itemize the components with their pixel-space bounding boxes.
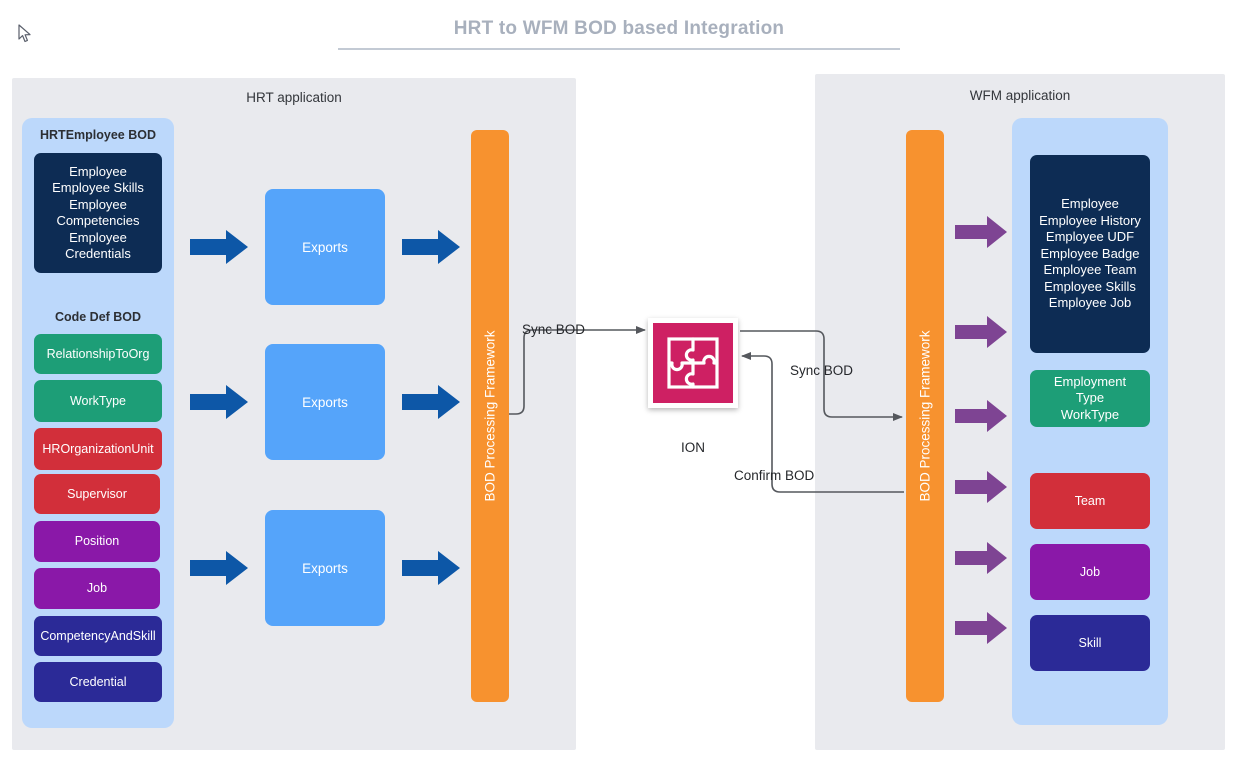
wfm-arrow-right-5 — [955, 540, 1009, 576]
code-def-item-supervisor[interactable]: Supervisor — [34, 474, 160, 514]
diagram-canvas: HRT to WFM BOD based Integration HRT app… — [0, 0, 1233, 760]
hrt-arrow-right-3 — [190, 549, 250, 587]
hrt-exports-arrow-right-2 — [402, 383, 462, 421]
edge-label-confirm-bod: Confirm BOD — [734, 468, 814, 483]
hrt-exports-arrow-right-1 — [402, 228, 462, 266]
hrt-framework-bar-label: BOD Processing Framework — [483, 330, 498, 501]
wfm-arrow-right-1 — [955, 214, 1009, 250]
wfm-team-box[interactable]: Team — [1030, 473, 1150, 529]
hrt-exports-box-3[interactable]: Exports — [265, 510, 385, 626]
wfm-application-title: WFM application — [815, 88, 1225, 103]
hrt-arrow-right-2 — [190, 383, 250, 421]
puzzle-icon — [666, 336, 720, 390]
wfm-arrow-right-6 — [955, 610, 1009, 646]
hrt-exports-box-1[interactable]: Exports — [265, 189, 385, 305]
page-title: HRT to WFM BOD based Integration — [338, 18, 900, 40]
hrt-exports-arrow-right-3 — [402, 549, 462, 587]
code-def-item-position[interactable]: Position — [34, 521, 160, 562]
wfm-employee-box[interactable]: Employee Employee History Employee UDF E… — [1030, 155, 1150, 353]
wfm-skill-box[interactable]: Skill — [1030, 615, 1150, 671]
wfm-arrow-right-3 — [955, 398, 1009, 434]
ion-label: ION — [640, 440, 746, 455]
code-def-item-competencyandskill[interactable]: CompetencyAndSkill — [34, 616, 162, 656]
ion-node[interactable] — [648, 318, 738, 408]
hrt-employee-bod-heading: HRTEmployee BOD — [22, 128, 174, 142]
mouse-pointer-icon — [18, 24, 34, 44]
wfm-arrow-right-2 — [955, 314, 1009, 350]
wfm-employment-type-box[interactable]: Employment Type WorkType — [1030, 370, 1150, 427]
code-def-item-hrorganizationunit[interactable]: HROrganizationUnit — [34, 428, 162, 470]
hrt-bod-processing-framework-bar[interactable]: BOD Processing Framework — [471, 130, 509, 702]
code-def-bod-heading: Code Def BOD — [22, 310, 174, 324]
code-def-item-credential[interactable]: Credential — [34, 662, 162, 702]
wfm-arrow-right-4 — [955, 469, 1009, 505]
hrt-exports-box-2[interactable]: Exports — [265, 344, 385, 460]
code-def-item-worktype[interactable]: WorkType — [34, 380, 162, 422]
hrt-employee-bod-box[interactable]: Employee Employee Skills Employee Compet… — [34, 153, 162, 273]
hrt-arrow-right-1 — [190, 228, 250, 266]
code-def-item-job[interactable]: Job — [34, 568, 160, 609]
title-underline — [338, 48, 900, 50]
wfm-job-box[interactable]: Job — [1030, 544, 1150, 600]
wfm-bod-processing-framework-bar[interactable]: BOD Processing Framework — [906, 130, 944, 702]
hrt-application-title: HRT application — [12, 90, 576, 105]
edge-label-sync-bod-right: Sync BOD — [790, 363, 853, 378]
edge-label-sync-bod-left: Sync BOD — [522, 322, 585, 337]
wfm-framework-bar-label: BOD Processing Framework — [918, 330, 933, 501]
code-def-item-relationshiptoorg[interactable]: RelationshipToOrg — [34, 334, 162, 374]
